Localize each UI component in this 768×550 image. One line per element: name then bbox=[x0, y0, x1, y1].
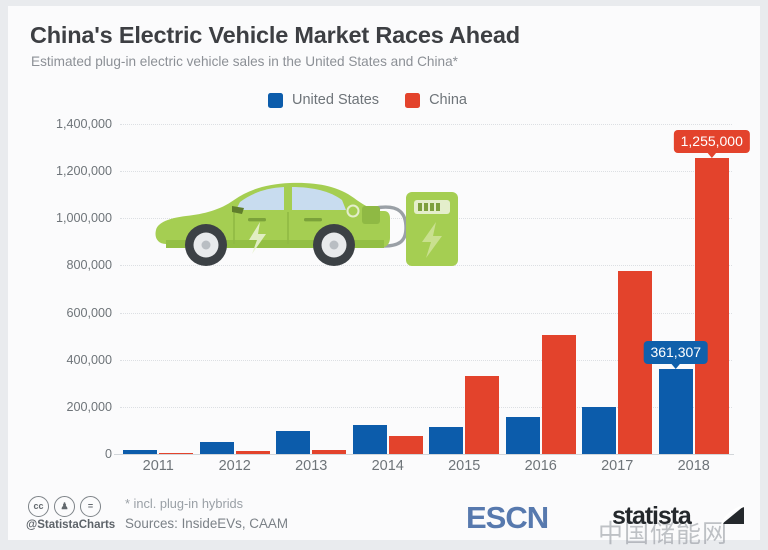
bar-united-states-2011[interactable] bbox=[123, 450, 157, 454]
legend-item-china[interactable]: China bbox=[405, 92, 467, 108]
legend-label-china: China bbox=[429, 92, 467, 108]
x-axis-tick-label-2012: 2012 bbox=[219, 458, 251, 474]
bar-united-states-2012[interactable] bbox=[200, 442, 234, 454]
x-axis-tick-label-2018: 2018 bbox=[678, 458, 710, 474]
x-axis-tick-label-2011: 2011 bbox=[143, 458, 174, 474]
x-axis-tick-label-2017: 2017 bbox=[601, 458, 633, 474]
page-subtitle: Estimated plug-in electric vehicle sales… bbox=[31, 54, 458, 69]
bar-united-states-2015[interactable] bbox=[429, 427, 463, 454]
page-title: China's Electric Vehicle Market Races Ah… bbox=[30, 22, 520, 49]
bar-united-states-2013[interactable] bbox=[276, 431, 310, 454]
statista-logo-mark bbox=[720, 504, 746, 526]
x-axis-tick-label-2013: 2013 bbox=[295, 458, 327, 474]
legend-item-united-states[interactable]: United States bbox=[268, 92, 379, 108]
bar-china-2011[interactable] bbox=[159, 453, 193, 455]
y-axis-tick-label: 1,400,000 bbox=[56, 117, 112, 131]
bar-united-states-2014[interactable] bbox=[353, 425, 387, 454]
bar-china-2012[interactable] bbox=[236, 451, 270, 454]
bar-china-2013[interactable] bbox=[312, 450, 346, 454]
footnote-hybrids: * incl. plug-in hybrids bbox=[125, 496, 243, 511]
bar-united-states-2017[interactable] bbox=[582, 407, 616, 454]
x-axis-tick-label-2014: 2014 bbox=[372, 458, 404, 474]
creative-commons-icons: cc ♟ = bbox=[28, 496, 101, 517]
y-axis-tick-label: 1,000,000 bbox=[56, 211, 112, 225]
chart-card: China's Electric Vehicle Market Races Ah… bbox=[8, 6, 760, 540]
cc-by-icon: ♟ bbox=[54, 496, 75, 517]
x-axis-tick-label-2015: 2015 bbox=[448, 458, 480, 474]
statista-logo-text: statista bbox=[612, 502, 691, 531]
cc-nd-icon: = bbox=[80, 496, 101, 517]
bar-china-2015[interactable] bbox=[465, 376, 499, 454]
escn-watermark: ESCN bbox=[466, 500, 548, 536]
y-axis-tick-label: 200,000 bbox=[66, 400, 112, 414]
chart-card-frame: China's Electric Vehicle Market Races Ah… bbox=[8, 6, 760, 540]
y-axis-tick-label: 800,000 bbox=[66, 258, 112, 272]
x-axis-line bbox=[114, 454, 734, 455]
bar-china-2018[interactable] bbox=[695, 158, 729, 454]
footnote-sources: Sources: InsideEVs, CAAM bbox=[125, 516, 288, 531]
y-axis-tick-label: 400,000 bbox=[66, 353, 112, 367]
bar-china-2016[interactable] bbox=[542, 335, 576, 455]
cc-icon: cc bbox=[28, 496, 49, 517]
y-axis-tick-label: 1,200,000 bbox=[56, 164, 112, 178]
gridline bbox=[120, 124, 732, 126]
bar-china-2014[interactable] bbox=[389, 436, 423, 454]
bar-united-states-2016[interactable] bbox=[506, 417, 540, 455]
y-axis-labels: 0200,000400,000600,000800,0001,000,0001,… bbox=[8, 124, 112, 454]
legend-swatch-united-states bbox=[268, 93, 283, 108]
electric-car-charging-illustration bbox=[148, 166, 478, 270]
bar-united-states-2018[interactable] bbox=[659, 369, 693, 454]
x-axis-tick-label-2016: 2016 bbox=[525, 458, 557, 474]
legend-label-united-states: United States bbox=[292, 92, 379, 108]
statista-charts-handle: @StatistaCharts bbox=[26, 519, 115, 531]
legend-swatch-china bbox=[405, 93, 420, 108]
y-axis-tick-label: 0 bbox=[105, 447, 112, 461]
data-label-united-states-2018: 361,307 bbox=[643, 341, 708, 364]
y-axis-tick-label: 600,000 bbox=[66, 306, 112, 320]
data-label-china-2018: 1,255,000 bbox=[674, 130, 750, 153]
chart-legend: United States China bbox=[268, 92, 467, 108]
